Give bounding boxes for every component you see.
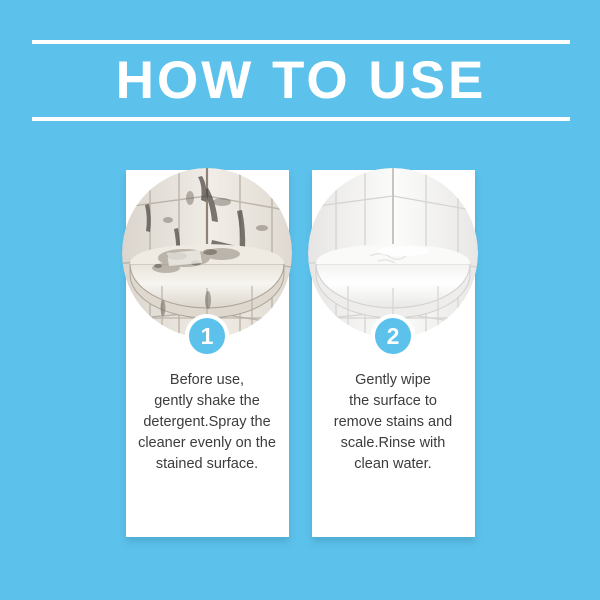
header: HOW TO USE	[32, 40, 570, 121]
step-card-2[interactable]: 2 Gently wipe the surface to remove stai…	[312, 170, 475, 537]
step-2-photo	[308, 168, 478, 338]
step-2-text: Gently wipe the surface to remove stains…	[318, 370, 468, 475]
dirty-shelf-icon	[122, 168, 292, 338]
step-card-1[interactable]: 1 Before use, gently shake the detergent…	[126, 170, 289, 537]
step-1-photo	[122, 168, 292, 338]
page-title: HOW TO USE	[32, 44, 570, 117]
step-1-text: Before use, gently shake the detergent.S…	[132, 370, 282, 475]
title-rule-bottom	[32, 117, 570, 121]
step-1-badge: 1	[185, 314, 229, 358]
clean-shelf-icon	[308, 168, 478, 338]
steps-container: 1 Before use, gently shake the detergent…	[0, 170, 600, 537]
step-2-badge: 2	[371, 314, 415, 358]
